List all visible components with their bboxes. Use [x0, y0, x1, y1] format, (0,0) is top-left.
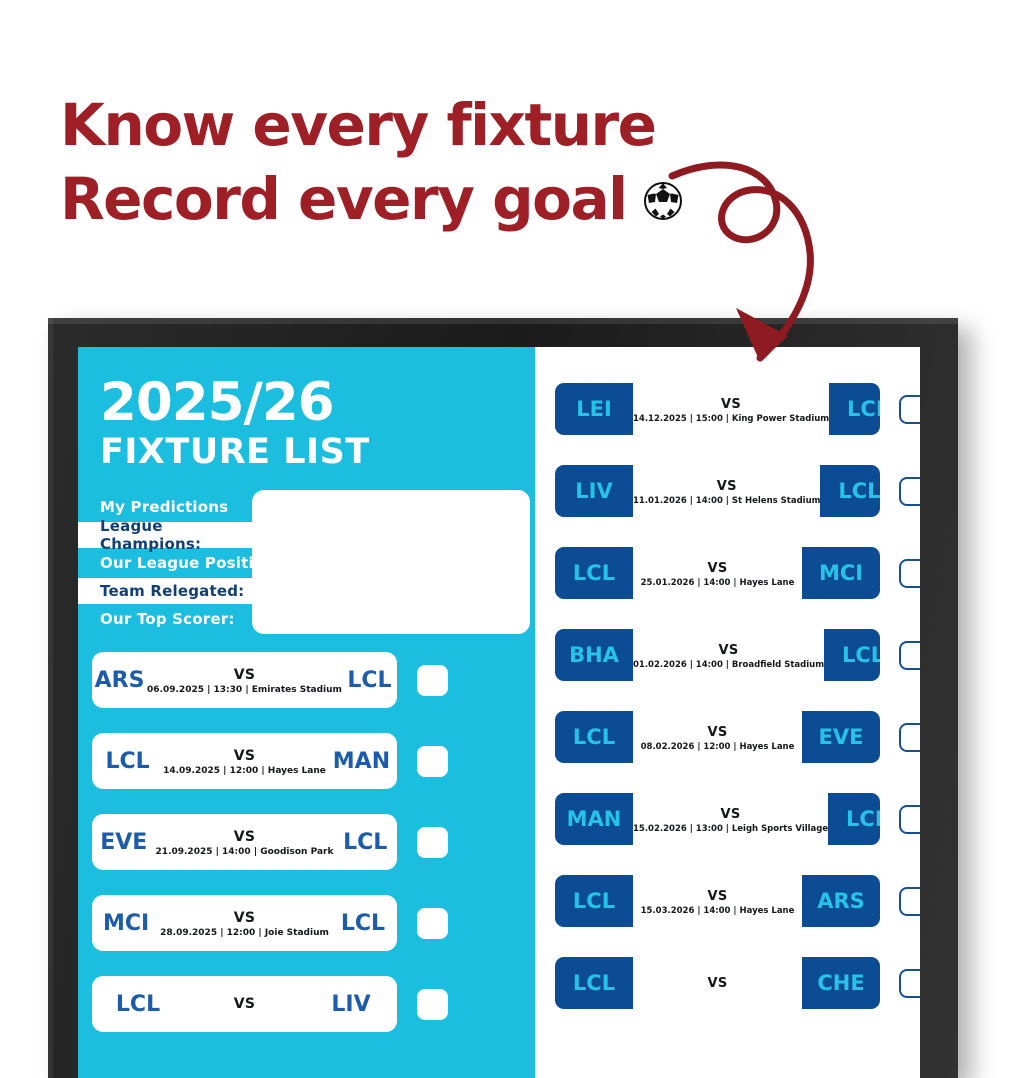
- fixture-meta: 11.01.2026 | 14:00 | St Helens Stadium: [633, 496, 820, 506]
- fixture-checkbox[interactable]: [899, 395, 920, 424]
- fixture-meta: 08.02.2026 | 12:00 | Hayes Lane: [641, 742, 795, 752]
- table-row: MCI VS 28.09.2025 | 12:00 | Joie Stadium…: [92, 895, 535, 951]
- fixture-checkbox[interactable]: [899, 559, 920, 588]
- vs-label: VS: [707, 561, 727, 576]
- fixture-meta: 14.12.2025 | 15:00 | King Power Stadium: [633, 414, 829, 424]
- table-row: MAN VS 15.02.2026 | 13:00 | Leigh Sports…: [555, 793, 920, 845]
- home-team: MCI: [92, 911, 160, 936]
- fixture-card[interactable]: LCL VS 14.09.2025 | 12:00 | Hayes Lane M…: [92, 733, 397, 789]
- fixture-card[interactable]: LCL VS 08.02.2026 | 12:00 | Hayes Lane E…: [555, 711, 880, 763]
- home-team: LIV: [555, 479, 633, 503]
- away-team: LIV: [305, 992, 397, 1017]
- fixture-checkbox[interactable]: [899, 887, 920, 916]
- prediction-label-top-scorer: Our Top Scorer:: [78, 606, 535, 632]
- poster-title-block: 2025/26 FIXTURE LIST: [78, 373, 535, 472]
- headline-line-2-wrap: Record every goal: [60, 162, 820, 238]
- headline-block: Know every fixture Record every goal: [60, 88, 820, 238]
- poster-frame: 2025/26 FIXTURE LIST My Predictions Leag…: [48, 318, 958, 1078]
- away-team: ARS: [802, 889, 880, 913]
- fixture-meta: 21.09.2025 | 14:00 | Goodison Park: [156, 847, 334, 857]
- away-team: LCL: [333, 830, 397, 855]
- fixture-checkbox[interactable]: [417, 908, 448, 939]
- table-row: EVE VS 21.09.2025 | 14:00 | Goodison Par…: [92, 814, 535, 870]
- table-row: LIV VS 11.01.2026 | 14:00 | St Helens St…: [555, 465, 920, 517]
- fixture-card[interactable]: LEI VS 14.12.2025 | 15:00 | King Power S…: [555, 383, 880, 435]
- fixture-card[interactable]: ARS VS 06.09.2025 | 13:30 | Emirates Sta…: [92, 652, 397, 708]
- away-team: LCL: [820, 479, 880, 503]
- table-row: LEI VS 14.12.2025 | 15:00 | King Power S…: [555, 383, 920, 435]
- headline-line-1: Know every fixture: [60, 88, 820, 162]
- home-team: LCL: [555, 561, 633, 585]
- fixture-checkbox[interactable]: [899, 805, 920, 834]
- vs-label: VS: [721, 807, 741, 822]
- home-team: ARS: [92, 668, 147, 693]
- fixture-details: VS 25.01.2026 | 14:00 | Hayes Lane: [633, 547, 802, 599]
- home-team: LCL: [92, 992, 184, 1017]
- fixture-card[interactable]: LCL VS 15.03.2026 | 14:00 | Hayes Lane A…: [555, 875, 880, 927]
- away-team: LCL: [329, 911, 397, 936]
- headline-line-2: Record every goal: [60, 165, 627, 233]
- vs-label: VS: [707, 889, 727, 904]
- away-team: EVE: [802, 725, 880, 749]
- fixture-meta: 25.01.2026 | 14:00 | Hayes Lane: [641, 578, 795, 588]
- away-team: LCL: [829, 397, 880, 421]
- poster-artwork: 2025/26 FIXTURE LIST My Predictions Leag…: [78, 347, 920, 1078]
- soccer-ball-icon: [643, 164, 683, 238]
- table-row: LCL VS 08.02.2026 | 12:00 | Hayes Lane E…: [555, 711, 920, 763]
- vs-label: VS: [717, 479, 737, 494]
- fixture-details: VS 21.09.2025 | 14:00 | Goodison Park: [156, 827, 334, 857]
- fixture-details: VS 15.02.2026 | 13:00 | Leigh Sports Vil…: [633, 793, 828, 845]
- home-team: EVE: [92, 830, 156, 855]
- vs-label: VS: [721, 397, 741, 412]
- fixture-details: VS: [633, 957, 802, 1009]
- season-year: 2025/26: [100, 375, 535, 430]
- fixture-details: VS 11.01.2026 | 14:00 | St Helens Stadiu…: [633, 465, 820, 517]
- vs-label: VS: [719, 643, 739, 658]
- fixture-details: VS 14.09.2025 | 12:00 | Hayes Lane: [163, 746, 326, 776]
- vs-label: VS: [160, 910, 329, 926]
- fixture-card[interactable]: MCI VS 28.09.2025 | 12:00 | Joie Stadium…: [92, 895, 397, 951]
- page-title: FIXTURE LIST: [100, 432, 535, 472]
- fixture-details: VS 14.12.2025 | 15:00 | King Power Stadi…: [633, 383, 829, 435]
- vs-label: VS: [147, 667, 342, 683]
- table-row: LCL VS 15.03.2026 | 14:00 | Hayes Lane A…: [555, 875, 920, 927]
- fixture-checkbox[interactable]: [899, 723, 920, 752]
- fixture-card[interactable]: LCL VS CHE: [555, 957, 880, 1009]
- fixture-checkbox[interactable]: [899, 969, 920, 998]
- fixture-details: VS 28.09.2025 | 12:00 | Joie Stadium: [160, 908, 329, 938]
- fixture-card[interactable]: LIV VS 11.01.2026 | 14:00 | St Helens St…: [555, 465, 880, 517]
- prediction-label-team-relegated: Team Relegated:: [78, 578, 268, 604]
- fixture-meta: 15.02.2026 | 13:00 | Leigh Sports Villag…: [633, 824, 828, 834]
- fixture-meta: 06.09.2025 | 13:30 | Emirates Stadium: [147, 685, 342, 695]
- right-white-panel: LEI VS 14.12.2025 | 15:00 | King Power S…: [535, 347, 920, 1078]
- fixture-checkbox[interactable]: [899, 641, 920, 670]
- fixture-card[interactable]: BHA VS 01.02.2026 | 14:00 | Broadfield S…: [555, 629, 880, 681]
- home-team: LCL: [555, 971, 633, 995]
- home-team: BHA: [555, 643, 633, 667]
- fixture-checkbox[interactable]: [417, 827, 448, 858]
- table-row: LCL VS 25.01.2026 | 14:00 | Hayes Lane M…: [555, 547, 920, 599]
- fixture-meta: 14.09.2025 | 12:00 | Hayes Lane: [163, 766, 326, 776]
- fixture-details: VS 08.02.2026 | 12:00 | Hayes Lane: [633, 711, 802, 763]
- table-row: LCL VS CHE: [555, 957, 920, 1009]
- fixture-details: VS 06.09.2025 | 13:30 | Emirates Stadium: [147, 665, 342, 695]
- fixture-meta: 15.03.2026 | 14:00 | Hayes Lane: [641, 906, 795, 916]
- fixture-meta: 01.02.2026 | 14:00 | Broadfield Stadium: [633, 660, 824, 670]
- fixture-details: VS 01.02.2026 | 14:00 | Broadfield Stadi…: [633, 629, 824, 681]
- home-team: LCL: [555, 889, 633, 913]
- fixture-checkbox[interactable]: [899, 477, 920, 506]
- table-row: BHA VS 01.02.2026 | 14:00 | Broadfield S…: [555, 629, 920, 681]
- away-team: LCL: [342, 668, 397, 693]
- left-fixture-list: ARS VS 06.09.2025 | 13:30 | Emirates Sta…: [78, 652, 535, 1032]
- fixture-card[interactable]: EVE VS 21.09.2025 | 14:00 | Goodison Par…: [92, 814, 397, 870]
- home-team: LCL: [92, 749, 163, 774]
- home-team: LCL: [555, 725, 633, 749]
- away-team: LCL: [824, 643, 880, 667]
- fixture-checkbox[interactable]: [417, 989, 448, 1020]
- away-team: MAN: [326, 749, 397, 774]
- prediction-label-league-champions: League Champions:: [78, 522, 268, 548]
- vs-label: VS: [156, 829, 334, 845]
- fixture-details: VS: [184, 994, 305, 1014]
- fixture-card[interactable]: LCL VS 25.01.2026 | 14:00 | Hayes Lane M…: [555, 547, 880, 599]
- vs-label: VS: [163, 748, 326, 764]
- fixture-details: VS 15.03.2026 | 14:00 | Hayes Lane: [633, 875, 802, 927]
- predictions-section: My Predictions League Champions: Our Lea…: [78, 494, 535, 634]
- table-row: ARS VS 06.09.2025 | 13:30 | Emirates Sta…: [92, 652, 535, 708]
- fixture-checkbox[interactable]: [417, 665, 448, 696]
- away-team: CHE: [802, 971, 880, 995]
- vs-label: VS: [184, 996, 305, 1012]
- vs-label: VS: [707, 725, 727, 740]
- fixture-checkbox[interactable]: [417, 746, 448, 777]
- fixture-meta: 28.09.2025 | 12:00 | Joie Stadium: [160, 928, 329, 938]
- home-team: MAN: [555, 807, 633, 831]
- left-cyan-panel: 2025/26 FIXTURE LIST My Predictions Leag…: [78, 347, 535, 1078]
- home-team: LEI: [555, 397, 633, 421]
- away-team: LCL: [828, 807, 880, 831]
- fixture-card[interactable]: MAN VS 15.02.2026 | 13:00 | Leigh Sports…: [555, 793, 880, 845]
- away-team: MCI: [802, 561, 880, 585]
- table-row: LCL VS 14.09.2025 | 12:00 | Hayes Lane M…: [92, 733, 535, 789]
- prediction-label-league-position: Our League Position:: [78, 550, 535, 576]
- vs-label: VS: [707, 976, 727, 991]
